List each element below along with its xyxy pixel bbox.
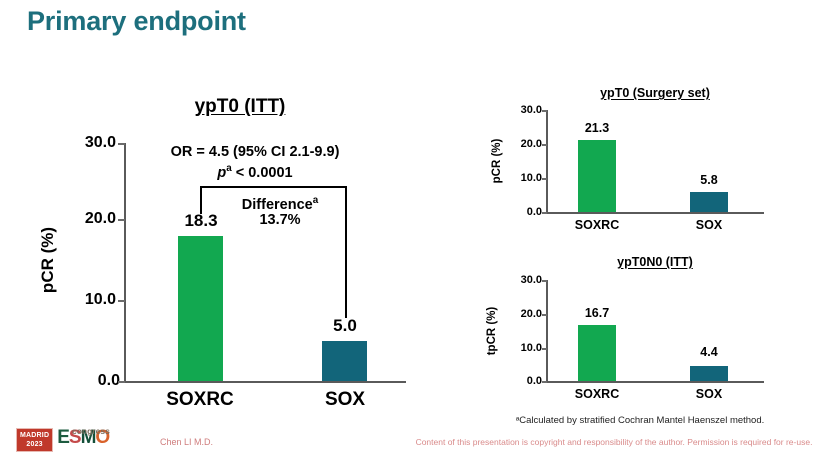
y-tick-mark-t0n0-20: [542, 314, 547, 316]
annotation-odds-ratio: OR = 4.5 (95% CI 2.1-9.9): [140, 144, 370, 160]
y-tick-mark-10: [118, 300, 125, 302]
y-axis-line-surgery: [546, 110, 548, 213]
logo-city: MADRID: [20, 431, 49, 440]
y-tick-label-20: 20.0: [56, 210, 116, 228]
x-axis-line: [124, 381, 406, 383]
logo-congress-suffix: congress: [72, 426, 110, 436]
y-tick-mark-surgery-30: [542, 110, 547, 112]
x-axis-line-surgery: [546, 212, 764, 214]
y-tick-label-surgery-20: 20.0: [494, 138, 542, 150]
comparison-bracket-top: [200, 186, 346, 188]
p-symbol: p: [217, 165, 226, 181]
y-tick-mark-t0n0-10: [542, 348, 547, 350]
x-category-soxrc: SOXRC: [130, 389, 270, 411]
logo-year: 2023: [20, 440, 49, 449]
y-tick-label-t0n0-0: 0.0: [498, 375, 542, 387]
logo-letter-e: E: [57, 427, 69, 448]
chart-title-ypt0-itt: ypT0 (ITT): [110, 96, 370, 118]
annotation-difference-value: 13.7%: [215, 212, 345, 228]
bar-value-surgery-soxrc: 21.3: [567, 121, 627, 135]
annotation-p-value: pa < 0.0001: [140, 163, 370, 181]
bar-value-sox: 5.0: [305, 316, 385, 336]
x-category-surgery-soxrc: SOXRC: [552, 218, 642, 232]
y-tick-mark-t0n0-0: [542, 381, 547, 383]
y-axis-label-pcr: pCR (%): [38, 205, 58, 315]
y-tick-label-t0n0-10: 10.0: [494, 342, 542, 354]
x-category-surgery-sox: SOX: [664, 218, 754, 232]
bar-surgery-sox: [690, 192, 728, 212]
y-tick-mark-20: [118, 219, 125, 221]
comparison-bracket-left: [200, 186, 202, 214]
y-axis-label-tpcr: tpCR (%): [486, 276, 498, 386]
bar-t0n0-soxrc: [578, 325, 616, 381]
p-superscript: a: [226, 163, 231, 174]
x-category-t0n0-soxrc: SOXRC: [552, 387, 642, 401]
comparison-bracket-right: [345, 186, 347, 318]
bar-value-t0n0-sox: 4.4: [679, 345, 739, 359]
bar-value-t0n0-soxrc: 16.7: [567, 306, 627, 320]
annotation-difference-label: Differencea: [215, 195, 345, 213]
x-axis-line-t0n0: [546, 381, 764, 383]
logo-madrid-badge: MADRID 2023: [16, 428, 53, 452]
y-tick-label-surgery-10: 10.0: [494, 172, 542, 184]
y-tick-label-t0n0-20: 20.0: [494, 308, 542, 320]
y-tick-label-0: 0.0: [60, 372, 120, 390]
y-tick-label-t0n0-30: 30.0: [494, 274, 542, 286]
y-axis-label-pcr-surgery: pCR (%): [491, 106, 503, 216]
y-tick-label-surgery-30: 30.0: [494, 104, 542, 116]
y-tick-mark-surgery-0: [542, 212, 547, 214]
bar-soxrc: [178, 236, 223, 381]
x-category-sox: SOX: [275, 389, 415, 411]
chart-ypt0-itt: ypT0 (ITT) pCR (%) 0.0 10.0 20.0 30.0 18…: [0, 0, 470, 420]
y-tick-mark-30: [118, 143, 125, 145]
y-tick-label-30: 30.0: [56, 134, 116, 152]
p-value-text: < 0.0001: [236, 165, 293, 181]
difference-superscript: a: [313, 195, 318, 206]
x-category-t0n0-sox: SOX: [664, 387, 754, 401]
copyright-notice: Content of this presentation is copyrigh…: [400, 437, 828, 447]
difference-text: Difference: [242, 197, 313, 213]
y-tick-mark-surgery-10: [542, 178, 547, 180]
presenter-name: Chen LI M.D.: [160, 437, 320, 447]
y-tick-label-surgery-0: 0.0: [498, 206, 542, 218]
y-axis-line: [124, 143, 126, 382]
bar-value-surgery-sox: 5.8: [679, 173, 739, 187]
chart-title-ypt0-surgery-set: ypT0 (Surgery set): [555, 86, 755, 100]
bar-t0n0-sox: [690, 366, 728, 381]
y-tick-label-10: 10.0: [56, 291, 116, 309]
bar-sox: [322, 341, 367, 381]
bar-surgery-soxrc: [578, 140, 616, 212]
y-axis-line-t0n0: [546, 280, 548, 382]
y-tick-mark-t0n0-30: [542, 280, 547, 282]
y-tick-mark-0: [118, 381, 125, 383]
footnote-statistical-method: ᵃCalculated by stratified Cochran Mantel…: [460, 415, 820, 426]
y-tick-mark-surgery-20: [542, 144, 547, 146]
chart-title-ypt0n0-itt: ypT0N0 (ITT): [555, 255, 755, 269]
